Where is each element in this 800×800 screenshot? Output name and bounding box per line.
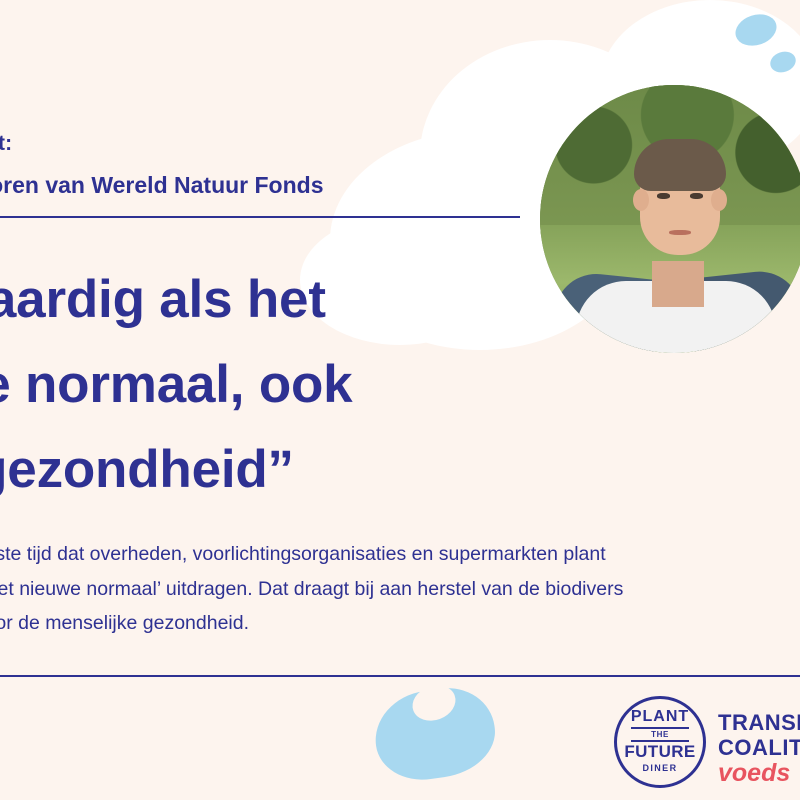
plant-the-future-diner-logo: PLANT THE FUTURE DINER (614, 696, 706, 788)
quote-card: ek met: n Dooren van Wereld Natuur Fonds… (0, 0, 800, 800)
body-line: als ‘het nieuwe normaal’ uitdragen. Dat … (0, 572, 800, 607)
quote-headline: antaardig als het uwe normaal, ook or ge… (0, 258, 668, 512)
transitiecoalitie-voedsel-logo: TRANSIT COALIT voeds (718, 712, 800, 786)
body-paragraph: hoogste tijd dat overheden, voorlichting… (0, 537, 800, 641)
logo-line-future: FUTURE (617, 743, 703, 761)
quote-line: uwe normaal, ook (0, 343, 668, 428)
logo-line-voedsel: voeds (718, 761, 800, 786)
kicker-text: ek met: (0, 132, 538, 156)
portrait-ear-left (633, 189, 649, 211)
body-line: hoogste tijd dat overheden, voorlichting… (0, 537, 800, 572)
body-line: er voor de menselijke gezondheid. (0, 606, 800, 641)
portrait-eye-left (657, 193, 670, 199)
quote-line: or gezondheid” (0, 428, 668, 513)
divider-bottom (0, 675, 800, 677)
portrait-ear-right (711, 189, 727, 211)
logo-rule (631, 727, 689, 729)
logo-line-coalitie: COALIT (718, 737, 800, 759)
divider-top (0, 216, 520, 218)
interviewee-name: n Dooren van Wereld Natuur Fonds (0, 172, 578, 199)
logo-line-plant: PLANT (617, 708, 703, 726)
portrait-eye-right (690, 193, 703, 199)
logo-line-the: THE (617, 730, 703, 739)
portrait-hair (634, 139, 726, 191)
portrait-mouth (669, 230, 691, 235)
logo-line-transitie: TRANSIT (718, 712, 800, 734)
quote-line: antaardig als het (0, 258, 668, 343)
logo-line-diner: DINER (617, 763, 703, 773)
